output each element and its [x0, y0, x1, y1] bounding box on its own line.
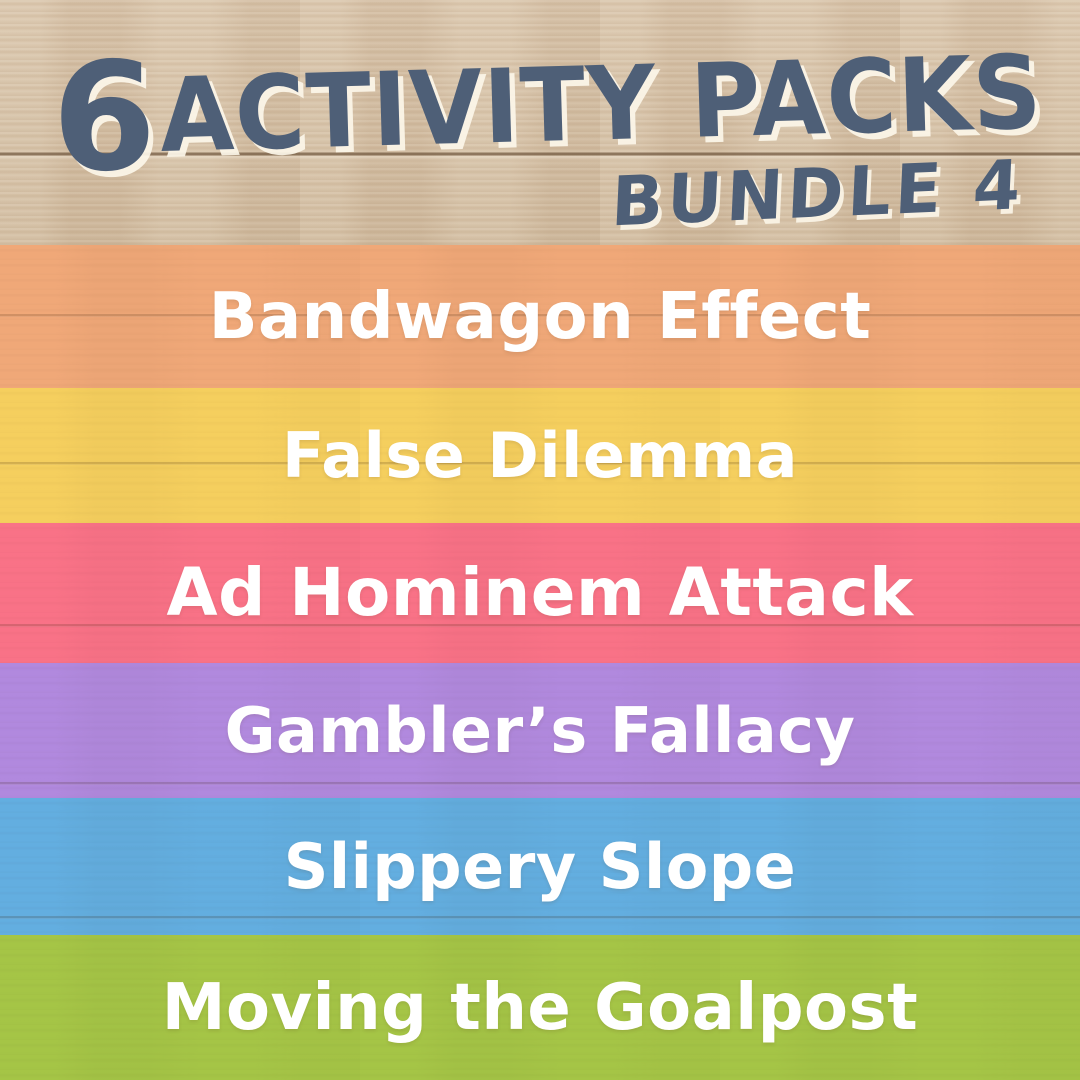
activity-pack-title: Slippery Slope [284, 836, 796, 898]
activity-pack-title: Moving the Goalpost [162, 976, 918, 1040]
list-item[interactable]: Slippery Slope [0, 798, 1080, 935]
pack-count: 6 [52, 52, 152, 184]
activity-pack-title: Bandwagon Effect [209, 285, 872, 349]
cover-canvas: 6 ACTIVITY PACKS BUNDLE 4 Bandwagon Effe… [0, 0, 1080, 1080]
list-item[interactable]: Gambler’s Fallacy [0, 663, 1080, 798]
activity-pack-title: Ad Hominem Attack [166, 560, 913, 626]
list-item[interactable]: Moving the Goalpost [0, 935, 1080, 1080]
list-item[interactable]: Bandwagon Effect [0, 245, 1080, 388]
activity-pack-title: False Dilemma [282, 425, 798, 487]
header: 6 ACTIVITY PACKS BUNDLE 4 [0, 0, 1080, 245]
list-item[interactable]: False Dilemma [0, 388, 1080, 523]
activity-pack-title: Gambler’s Fallacy [225, 700, 856, 762]
bundle-subtitle: BUNDLE 4 [610, 152, 1026, 237]
list-item[interactable]: Ad Hominem Attack [0, 523, 1080, 663]
activity-pack-list: Bandwagon Effect False Dilemma Ad Homine… [0, 245, 1080, 1080]
